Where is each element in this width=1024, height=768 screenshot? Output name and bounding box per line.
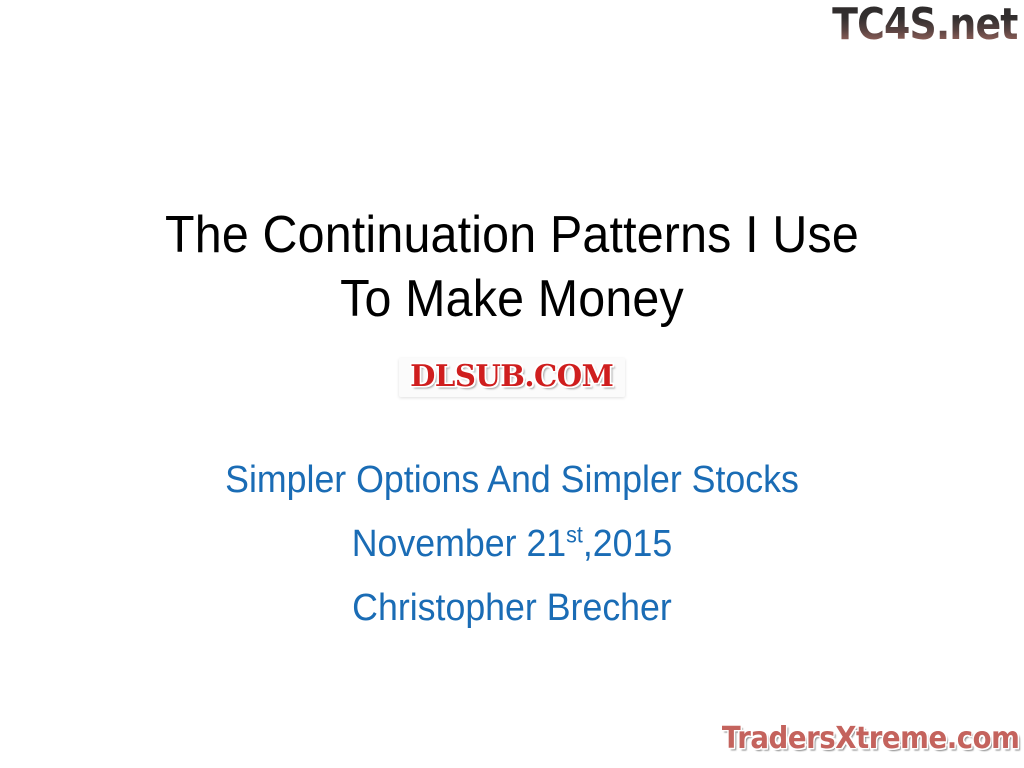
subtitle-date-suffix: ,2015 [583, 523, 672, 565]
tc4s-watermark: TC4S.net [833, 2, 1018, 48]
slide-title-line-1: The Continuation Patterns I Use [36, 203, 988, 267]
subtitle-sponsor-line: Simpler Options And Simpler Stocks [31, 448, 994, 512]
tradersxtreme-watermark: TradersXtreme.com [721, 723, 1019, 755]
subtitle-presenter-line: Christopher Brecher [31, 576, 994, 640]
slide-subtitle: Simpler Options And Simpler Stocks Novem… [0, 448, 1024, 640]
slide-title: The Continuation Patterns I Use To Make … [0, 203, 1024, 331]
slide-title-line-2: To Make Money [36, 267, 988, 331]
presentation-title-slide: TC4S.net The Continuation Patterns I Use… [0, 0, 1024, 768]
dlsub-stamp-plate: DLSUB.COM [399, 358, 624, 397]
subtitle-date-line: November 21st,2015 [31, 512, 994, 576]
subtitle-date-ordinal: st [566, 521, 583, 547]
dlsub-stamp: DLSUB.COM [0, 358, 1024, 404]
subtitle-date-prefix: November 21 [352, 523, 566, 565]
dlsub-stamp-label: DLSUB.COM [410, 361, 613, 393]
